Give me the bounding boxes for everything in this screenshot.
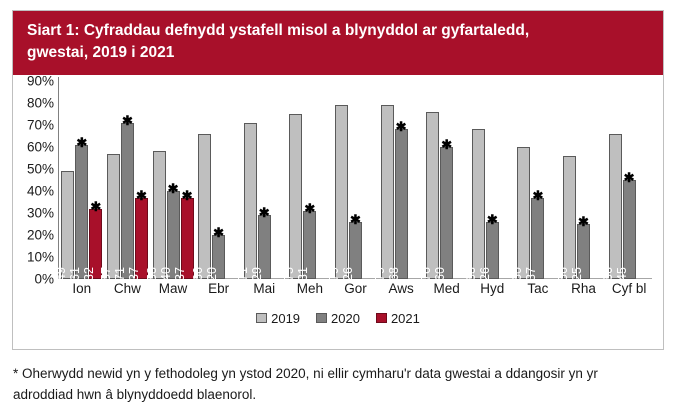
bar-value-label: 71 xyxy=(113,267,127,281)
legend-item-2019[interactable]: 2019 xyxy=(256,311,300,326)
bar-2020-maw[interactable]: 40✱ xyxy=(167,191,180,279)
bar-2019-chw[interactable]: 57 xyxy=(107,154,120,279)
bar-value-label: 37 xyxy=(127,267,141,281)
bar-slot: 66 xyxy=(198,81,211,279)
bar-2020-hyd[interactable]: 26✱ xyxy=(486,222,499,279)
bar-slot: 29✱ xyxy=(258,81,271,279)
bar-2020-aws[interactable]: 68✱ xyxy=(395,129,408,279)
bar-group: 6645✱ xyxy=(606,81,652,279)
bar-slot: 61✱ xyxy=(75,81,88,279)
chart-page: Siart 1: Cyfraddau defnydd ystafell miso… xyxy=(0,0,676,420)
bar-slot: 60 xyxy=(517,81,530,279)
bar-value-label: 20 xyxy=(205,267,219,281)
bar-slot: 32✱ xyxy=(89,81,102,279)
bar-value-label: 60 xyxy=(433,267,447,281)
legend-swatch-icon xyxy=(376,313,387,323)
bar-value-label: 49 xyxy=(54,267,68,281)
x-axis-tick: Hyd xyxy=(469,281,515,296)
bar-2019-mai[interactable]: 71 xyxy=(244,123,257,279)
bar-group: 7968✱ xyxy=(378,81,424,279)
bar-value-label: 56 xyxy=(556,267,570,281)
bar-slot: 79 xyxy=(381,81,394,279)
bar-value-label: 37 xyxy=(524,267,538,281)
bar-2019-rha[interactable]: 56 xyxy=(563,156,576,279)
bar-slot: 71 xyxy=(244,81,257,279)
bar-group: 6037✱ xyxy=(515,81,561,279)
bar-2019-tac[interactable]: 60 xyxy=(517,147,530,279)
bar-2020-ion[interactable]: 61✱ xyxy=(75,145,88,279)
bar-value-label: 45 xyxy=(615,267,629,281)
bar-group: 5771✱37✱ xyxy=(105,81,151,279)
bar-slot: 68✱ xyxy=(395,81,408,279)
footnote-asterisk-marker: ✱ xyxy=(578,217,589,226)
bar-2019-cyf-bl[interactable]: 66 xyxy=(609,134,622,279)
chart-legend: 201920202021 xyxy=(13,311,663,326)
bar-value-label: 60 xyxy=(510,267,524,281)
y-axis-tick: 30% xyxy=(27,205,54,220)
legend-item-2021[interactable]: 2021 xyxy=(376,311,420,326)
bar-2020-mai[interactable]: 29✱ xyxy=(258,215,271,279)
bar-group: 5625✱ xyxy=(561,81,607,279)
bar-value-label: 57 xyxy=(99,267,113,281)
bar-group: 7531✱ xyxy=(287,81,333,279)
bar-2019-meh[interactable]: 75 xyxy=(289,114,302,279)
legend-label: 2020 xyxy=(331,311,360,326)
bar-2019-aws[interactable]: 79 xyxy=(381,105,394,279)
legend-swatch-icon xyxy=(316,313,327,323)
chart-title-banner: Siart 1: Cyfraddau defnydd ystafell miso… xyxy=(13,11,663,75)
bar-2019-maw[interactable]: 58 xyxy=(153,151,166,279)
legend-label: 2019 xyxy=(271,311,300,326)
x-axis-tick: Cyf bl xyxy=(606,281,652,296)
bar-slot: 45✱ xyxy=(623,81,636,279)
footnote-asterisk-marker: ✱ xyxy=(624,173,635,182)
chart-footnote: * Oherwydd newid yn y fethodoleg yn ysto… xyxy=(13,364,633,406)
bar-slot xyxy=(363,81,376,279)
footnote-asterisk-marker: ✱ xyxy=(441,140,452,149)
x-axis-tick: Mai xyxy=(241,281,287,296)
bar-2020-tac[interactable]: 37✱ xyxy=(531,198,544,279)
bar-2019-med[interactable]: 76 xyxy=(426,112,439,279)
bar-slot: 56 xyxy=(563,81,576,279)
bar-slot xyxy=(591,81,604,279)
x-axis-tick: Meh xyxy=(287,281,333,296)
bar-slot: 75 xyxy=(289,81,302,279)
bar-slot: 37✱ xyxy=(135,81,148,279)
bar-value-label: 32 xyxy=(82,267,96,281)
bar-value-label: 58 xyxy=(145,267,159,281)
footnote-asterisk-marker: ✱ xyxy=(168,184,179,193)
x-axis-tick: Gor xyxy=(333,281,379,296)
y-axis-tick: 70% xyxy=(27,117,54,132)
bar-slot: 26✱ xyxy=(349,81,362,279)
bar-value-label: 26 xyxy=(478,267,492,281)
chart-title-line-2: gwestai, 2019 i 2021 xyxy=(27,42,649,64)
bar-slot xyxy=(272,81,285,279)
bar-value-label: 31 xyxy=(296,267,310,281)
bar-slot xyxy=(226,81,239,279)
x-axis-tick: Maw xyxy=(150,281,196,296)
bar-2020-gor[interactable]: 26✱ xyxy=(349,222,362,279)
bar-slot: 25✱ xyxy=(577,81,590,279)
bar-groups: 4961✱32✱5771✱37✱5840✱37✱6620✱7129✱7531✱7… xyxy=(59,81,652,279)
bar-2020-meh[interactable]: 31✱ xyxy=(303,211,316,279)
bar-value-label: 76 xyxy=(419,267,433,281)
bar-value-label: 68 xyxy=(464,267,478,281)
footnote-asterisk-marker: ✱ xyxy=(487,215,498,224)
bar-value-label: 75 xyxy=(282,267,296,281)
bar-value-label: 26 xyxy=(341,267,355,281)
legend-item-2020[interactable]: 2020 xyxy=(316,311,360,326)
bar-slot xyxy=(409,81,422,279)
y-axis-tick: 90% xyxy=(27,73,54,88)
footnote-asterisk-marker: ✱ xyxy=(396,122,407,131)
bar-slot: 31✱ xyxy=(303,81,316,279)
bar-slot: 71✱ xyxy=(121,81,134,279)
footnote-asterisk-marker: ✱ xyxy=(122,116,133,125)
y-axis-tick: 20% xyxy=(27,227,54,242)
y-axis: 90%80%70%60%50%40%30%20%10%0% xyxy=(13,81,57,277)
bar-slot xyxy=(545,81,558,279)
bar-value-label: 37 xyxy=(173,267,187,281)
bar-slot xyxy=(454,81,467,279)
bar-group: 6826✱ xyxy=(469,81,515,279)
bar-slot xyxy=(317,81,330,279)
footnote-asterisk-marker: ✱ xyxy=(90,202,101,211)
bar-value-label: 66 xyxy=(601,267,615,281)
y-axis-tick: 40% xyxy=(27,183,54,198)
bar-group: 6620✱ xyxy=(196,81,242,279)
x-axis: IonChwMawEbrMaiMehGorAwsMedHydTacRhaCyf … xyxy=(59,281,652,296)
bar-value-label: 25 xyxy=(570,267,584,281)
bar-2020-med[interactable]: 60✱ xyxy=(440,147,453,279)
bar-value-label: 40 xyxy=(159,267,173,281)
y-axis-tick: 0% xyxy=(34,271,54,286)
bar-value-label: 79 xyxy=(327,267,341,281)
chart-container: Siart 1: Cyfraddau defnydd ystafell miso… xyxy=(12,10,664,350)
x-axis-tick: Rha xyxy=(561,281,607,296)
bar-slot xyxy=(637,81,650,279)
footnote-asterisk-marker: ✱ xyxy=(304,204,315,213)
bar-2020-ebr[interactable]: 20✱ xyxy=(212,235,225,279)
footnote-asterisk-marker: ✱ xyxy=(76,138,87,147)
bar-value-label: 68 xyxy=(387,267,401,281)
bar-group: 5840✱37✱ xyxy=(150,81,196,279)
bar-2019-hyd[interactable]: 68 xyxy=(472,129,485,279)
x-axis-tick: Ebr xyxy=(196,281,242,296)
bar-slot: 76 xyxy=(426,81,439,279)
bar-slot: 37✱ xyxy=(181,81,194,279)
bar-slot: 49 xyxy=(61,81,74,279)
bar-slot xyxy=(500,81,513,279)
bar-slot: 68 xyxy=(472,81,485,279)
footnote-asterisk-marker: ✱ xyxy=(532,191,543,200)
bar-group: 4961✱32✱ xyxy=(59,81,105,279)
chart-title-line-1: Siart 1: Cyfraddau defnydd ystafell miso… xyxy=(27,20,649,42)
footnote-asterisk-marker: ✱ xyxy=(350,215,361,224)
bar-2020-rha[interactable]: 25✱ xyxy=(577,224,590,279)
bar-slot: 66 xyxy=(609,81,622,279)
footnote-asterisk-marker: ✱ xyxy=(213,228,224,237)
bar-2019-ion[interactable]: 49 xyxy=(61,171,74,279)
x-axis-tick: Med xyxy=(424,281,470,296)
footnote-asterisk-marker: ✱ xyxy=(182,191,193,200)
bar-value-label: 79 xyxy=(373,267,387,281)
x-axis-tick: Ion xyxy=(59,281,105,296)
bar-2019-gor[interactable]: 79 xyxy=(335,105,348,279)
bar-slot: 26✱ xyxy=(486,81,499,279)
bar-slot: 79 xyxy=(335,81,348,279)
bar-slot: 20✱ xyxy=(212,81,225,279)
legend-label: 2021 xyxy=(391,311,420,326)
x-axis-tick: Tac xyxy=(515,281,561,296)
bar-2019-ebr[interactable]: 66 xyxy=(198,134,211,279)
x-axis-tick: Aws xyxy=(378,281,424,296)
bar-group: 7129✱ xyxy=(241,81,287,279)
footnote-asterisk-marker: ✱ xyxy=(136,191,147,200)
bar-slot: 57 xyxy=(107,81,120,279)
bar-slot: 37✱ xyxy=(531,81,544,279)
footnote-asterisk-marker: ✱ xyxy=(259,208,270,217)
bar-slot: 40✱ xyxy=(167,81,180,279)
y-axis-tick: 60% xyxy=(27,139,54,154)
bar-2020-chw[interactable]: 71✱ xyxy=(121,123,134,279)
bar-slot: 60✱ xyxy=(440,81,453,279)
x-axis-tick: Chw xyxy=(105,281,151,296)
bar-slot: 58 xyxy=(153,81,166,279)
bar-2020-cyf-bl[interactable]: 45✱ xyxy=(623,180,636,279)
bar-group: 7926✱ xyxy=(333,81,379,279)
bar-group: 7660✱ xyxy=(424,81,470,279)
y-axis-tick: 80% xyxy=(27,95,54,110)
bar-value-label: 66 xyxy=(191,267,205,281)
plot-area: 90%80%70%60%50%40%30%20%10%0% 4961✱32✱57… xyxy=(13,75,663,341)
y-axis-tick: 10% xyxy=(27,249,54,264)
bar-value-label: 29 xyxy=(250,267,264,281)
bar-value-label: 71 xyxy=(236,267,250,281)
legend-swatch-icon xyxy=(256,313,267,323)
bar-value-label: 61 xyxy=(68,267,82,281)
y-axis-tick: 50% xyxy=(27,161,54,176)
